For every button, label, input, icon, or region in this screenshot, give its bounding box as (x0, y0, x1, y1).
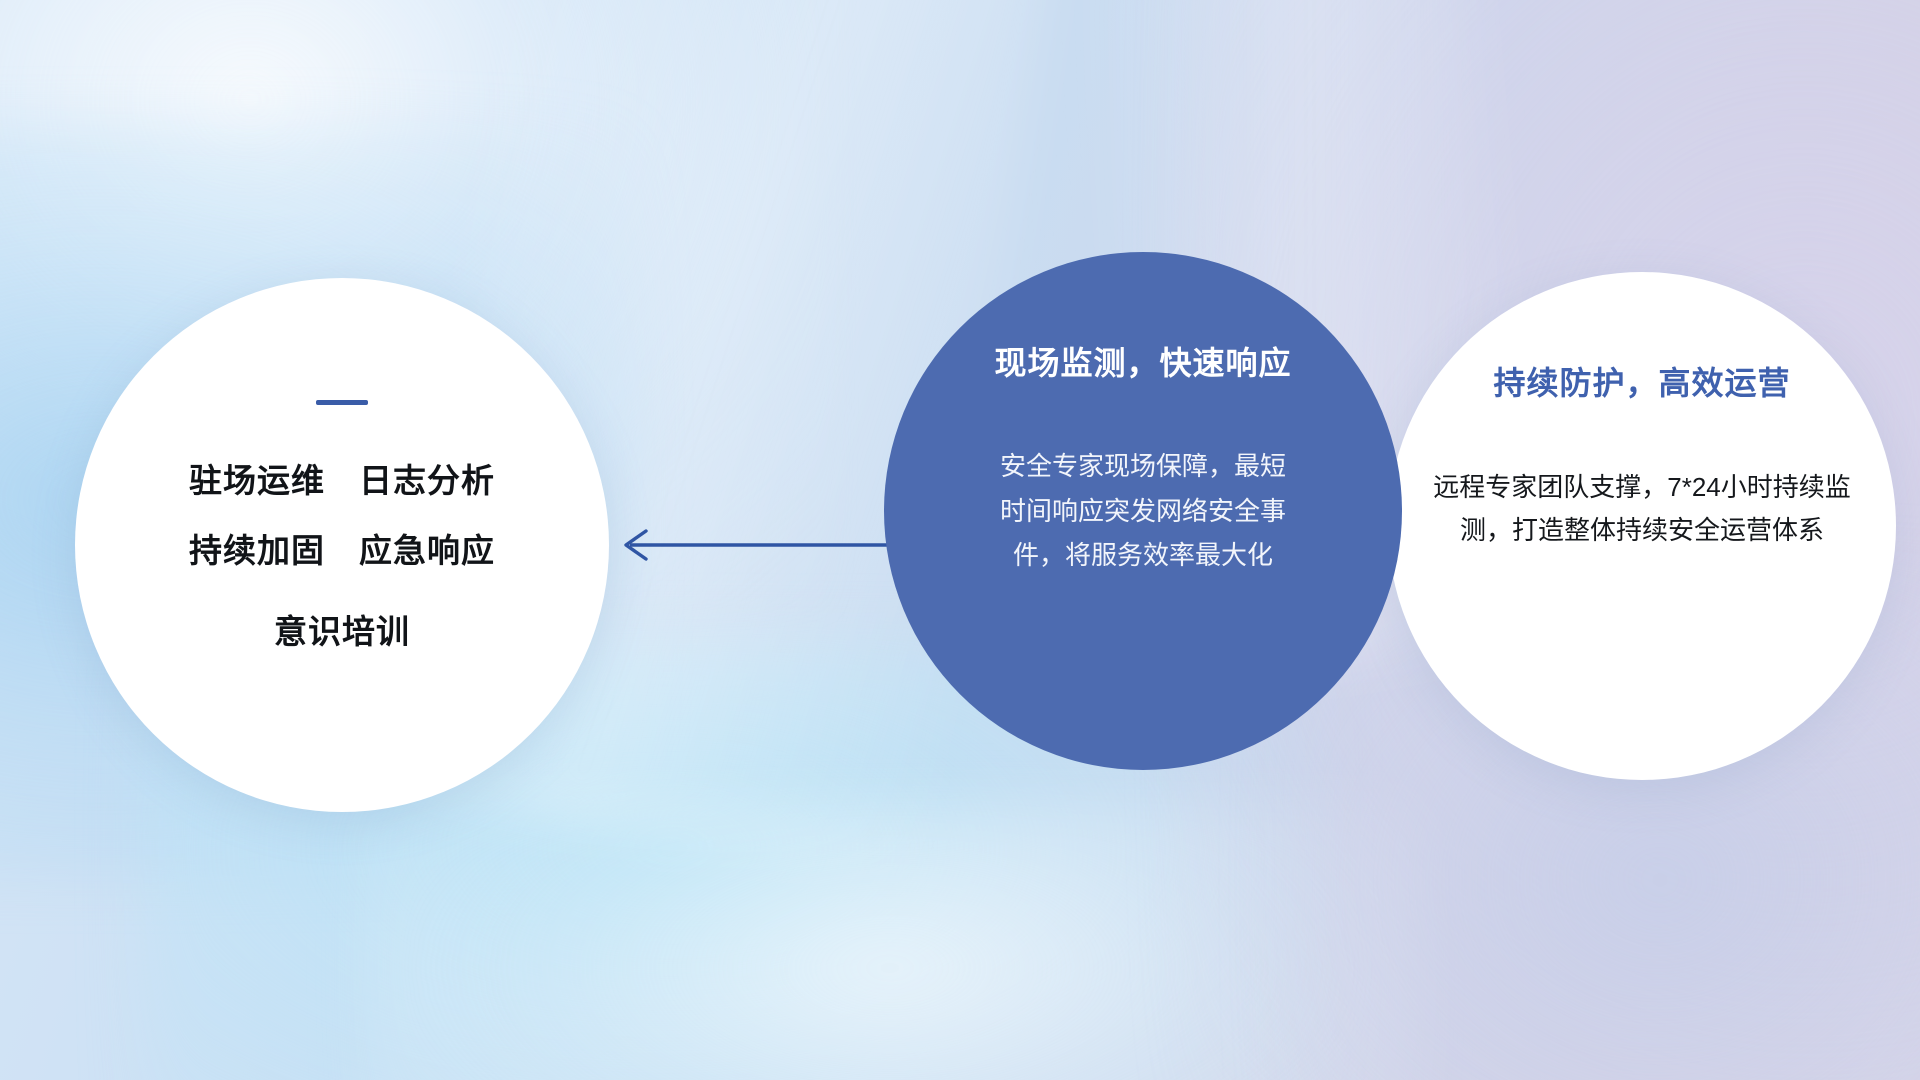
capability-tag[interactable]: 意识培训 (274, 612, 410, 652)
capability-row: 意识培训 (274, 612, 410, 652)
slide-canvas: 驻场运维 日志分析 持续加固 应急响应 意识培训 现场监测，快速响应 安全专家现… (0, 0, 1920, 1080)
flow-arrow-left-icon (604, 525, 894, 565)
capability-circle-right-content: 持续防护，高效运营 远程专家团队支撑，7*24小时持续监测，打造整体持续安全运营… (1388, 272, 1896, 780)
right-circle-title: 持续防护，高效运营 (1493, 358, 1790, 404)
capability-circle-middle[interactable] (884, 252, 1402, 770)
right-circle-body: 远程专家团队支撑，7*24小时持续监测，打造整体持续安全运营体系 (1431, 466, 1853, 552)
divider-dash (316, 400, 368, 405)
capability-circle-left-content: 驻场运维 日志分析 持续加固 应急响应 意识培训 (75, 278, 609, 812)
capability-tag[interactable]: 日志分析 (359, 461, 495, 501)
capability-row: 驻场运维 日志分析 (189, 461, 495, 501)
capability-tag[interactable]: 应急响应 (359, 531, 495, 571)
capability-row: 持续加固 应急响应 (189, 531, 495, 571)
capability-tag[interactable]: 持续加固 (189, 531, 325, 571)
capability-tag[interactable]: 驻场运维 (189, 461, 325, 501)
